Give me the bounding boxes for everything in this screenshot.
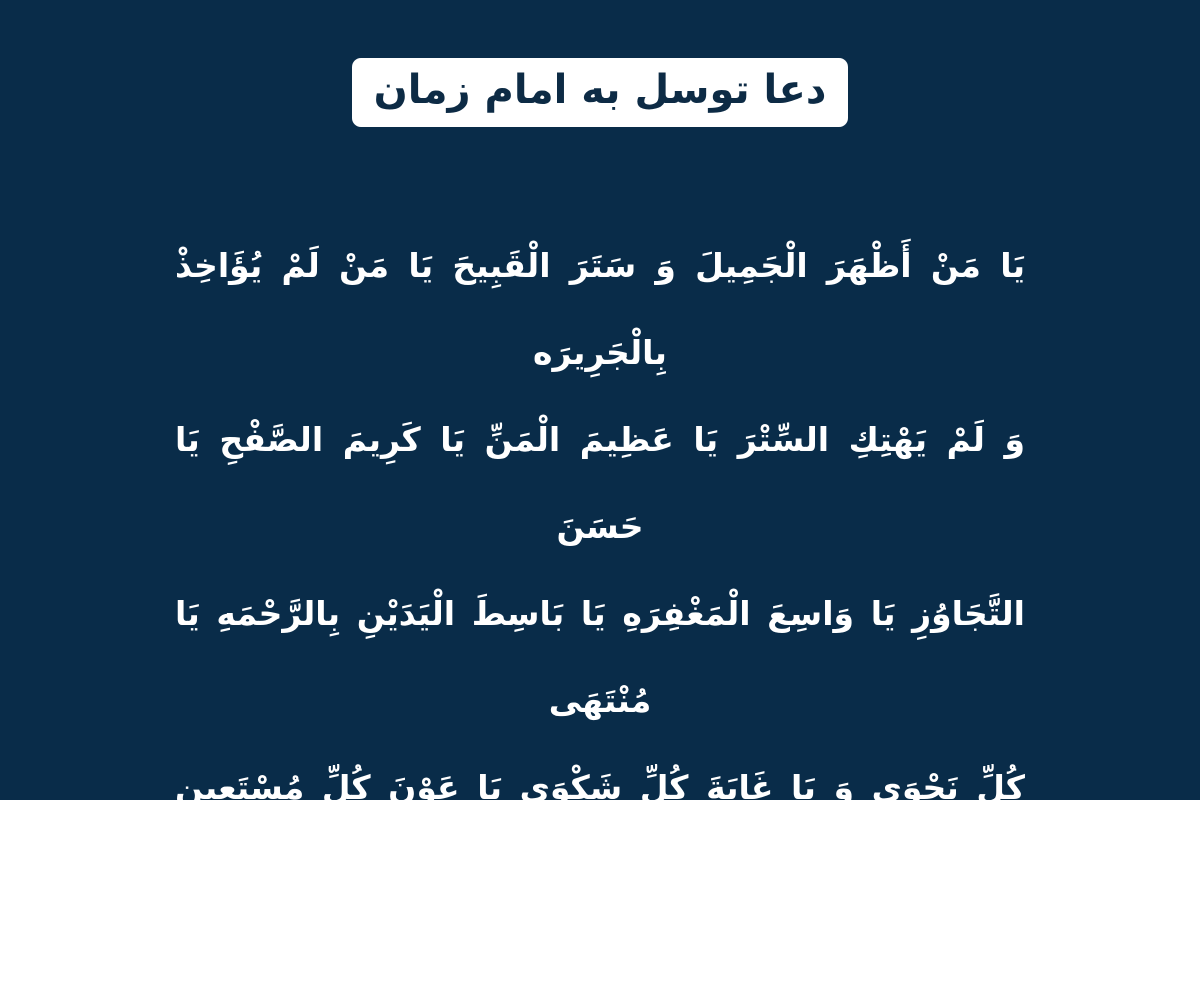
dua-line-4: كُلِّ نَجْوَى وَ يَا غَايَةَ كُلِّ شَكْو… [175, 744, 1025, 918]
dua-text-block: يَا مَنْ أَظْهَرَ الْجَمِيلَ وَ سَتَرَ ا… [175, 222, 1025, 1005]
title-badge: دعا توسل به امام زمان [352, 58, 849, 127]
dua-line-3: التَّجَاوُزِ يَا وَاسِعَ الْمَغْفِرَهِ ي… [175, 570, 1025, 744]
title-badge-container: دعا توسل به امام زمان [0, 58, 1200, 127]
dua-line-1: يَا مَنْ أَظْهَرَ الْجَمِيلَ وَ سَتَرَ ا… [175, 222, 1025, 396]
dua-line-2: وَ لَمْ يَهْتِكِ السِّتْرَ يَا عَظِيمَ ا… [175, 396, 1025, 570]
dua-line-5: بِالنِّعَمِ قَبْلَ اسْتِحْقَاقِهَا [175, 918, 1025, 1005]
dua-poster: دعا توسل به امام زمان يَا مَنْ أَظْهَرَ … [0, 0, 1200, 800]
page-title: دعا توسل به امام زمان [374, 63, 827, 117]
